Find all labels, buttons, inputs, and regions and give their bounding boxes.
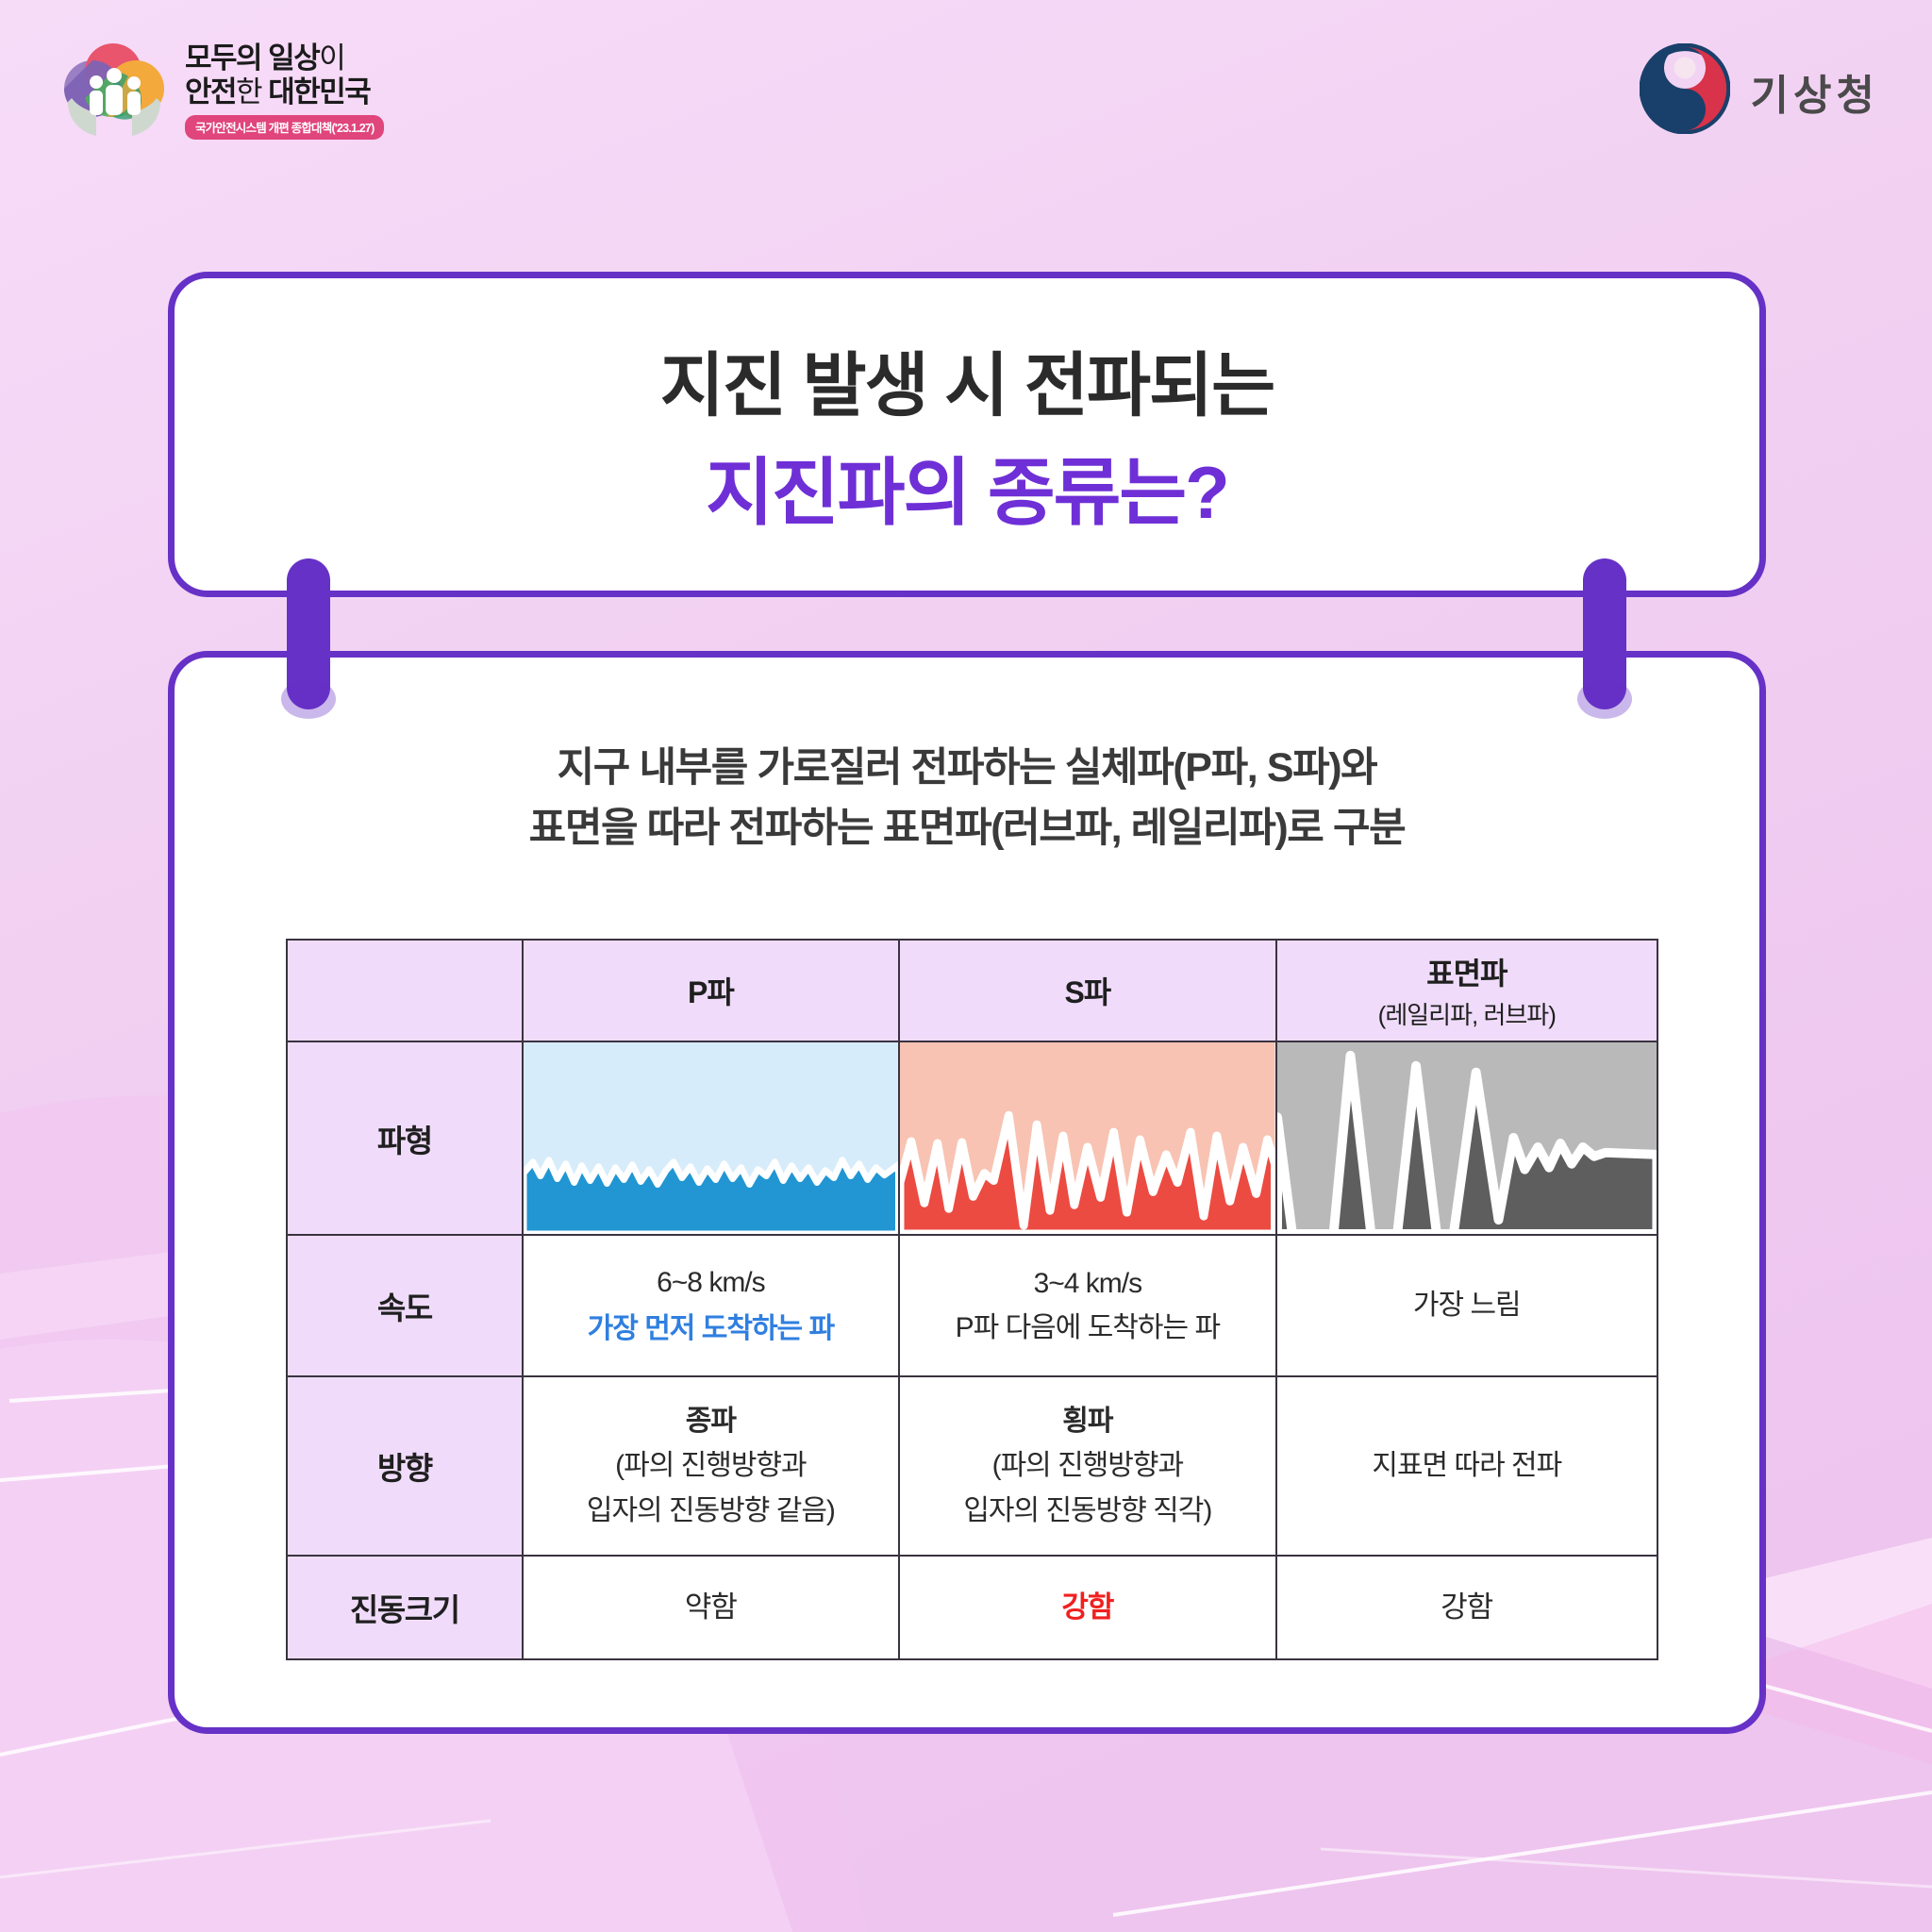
connector-pin-left [287,558,330,709]
table-row-speed: 속도 6~8 km/s 가장 먼저 도착하는 파 3~4 km/s P파 다음에… [287,1235,1657,1376]
direction-p-heading: 종파 [531,1401,891,1442]
speed-s-note: P파 다음에 도착하는 파 [908,1307,1267,1349]
table-row-amplitude: 진동크기 약함 강함 강함 [287,1556,1657,1659]
waveform-p-wave [523,1041,899,1235]
safety-campaign-logo: 모두의 일상이 안전한 대한민국 국가안전시스템 개편 종합대책('23.1.2… [58,40,384,143]
direction-s-heading: 횡파 [908,1401,1267,1442]
speed-p-wave: 6~8 km/s 가장 먼저 도착하는 파 [523,1235,899,1376]
speed-s-wave: 3~4 km/s P파 다음에 도착하는 파 [899,1235,1275,1376]
table-header-row: P파 S파 표면파 (레일리파, 러브파) [287,940,1657,1041]
header-surface-wave: 표면파 (레일리파, 러브파) [1276,940,1657,1041]
amplitude-surface-wave: 강함 [1276,1556,1657,1659]
family-in-hands-logo [58,40,170,143]
description-line-2: 표면을 따라 전파하는 표면파(러브파, 레일리파)로 구분 [175,799,1759,859]
brand-line-1: 모두의 일상이 [185,43,384,75]
speed-p-value: 6~8 km/s [531,1262,891,1304]
table-row-direction: 방향 종파 (파의 진행방향과 입자의 진동방향 같음) 횡파 (파의 진행방향… [287,1376,1657,1556]
kma-logo: 기상청 [1640,43,1879,139]
waveform-s-wave [899,1041,1275,1235]
direction-s-sub-a: (파의 진행방향과 [908,1445,1267,1487]
connector-pin-right [1583,558,1626,709]
row-label-direction: 방향 [287,1376,523,1556]
page-header: 모두의 일상이 안전한 대한민국 국가안전시스템 개편 종합대책('23.1.2… [0,0,1932,179]
seismic-wave-comparison-table: P파 S파 표면파 (레일리파, 러브파) 파형 [286,939,1658,1660]
header-corner [287,940,523,1041]
header-s-wave: S파 [899,940,1275,1041]
direction-s-wave: 횡파 (파의 진행방향과 입자의 진동방향 직각) [899,1376,1275,1556]
speed-s-value: 3~4 km/s [908,1263,1267,1305]
waveform-surface-wave [1276,1041,1657,1235]
page-title-line-2: 지진파의 종류는? [706,434,1228,540]
description-line-1: 지구 내부를 가로질러 전파하는 실체파(P파, S파)와 [175,739,1759,799]
page-title-line-1: 지진 발생 시 전파되는 [660,329,1274,430]
kma-label: 기상청 [1751,61,1879,122]
direction-p-wave: 종파 (파의 진행방향과 입자의 진동방향 같음) [523,1376,899,1556]
campaign-badge: 국가안전시스템 개편 종합대책('23.1.27) [185,115,384,140]
direction-s-sub-b: 입자의 진동방향 직각) [908,1491,1267,1532]
brand-text: 모두의 일상이 안전한 대한민국 국가안전시스템 개편 종합대책('23.1.2… [185,43,384,141]
direction-p-sub-a: (파의 진행방향과 [531,1445,891,1487]
amplitude-s-wave: 강함 [899,1556,1275,1659]
brand-line-2: 안전한 대한민국 [185,77,384,108]
title-card: 지진 발생 시 전파되는 지진파의 종류는? [168,272,1766,597]
header-p-wave: P파 [523,940,899,1041]
header-surface-sub: (레일리파, 러브파) [1277,996,1657,1031]
speed-surface-wave: 가장 느림 [1276,1235,1657,1376]
amplitude-p-wave: 약함 [523,1556,899,1659]
content-card: 지구 내부를 가로질러 전파하는 실체파(P파, S파)와 표면을 따라 전파하… [168,651,1766,1734]
taegeuk-emblem [1640,43,1730,139]
description-text: 지구 내부를 가로질러 전파하는 실체파(P파, S파)와 표면을 따라 전파하… [175,739,1759,858]
direction-surface-wave: 지표면 따라 전파 [1276,1376,1657,1556]
row-label-waveform: 파형 [287,1041,523,1235]
row-label-amplitude: 진동크기 [287,1556,523,1659]
direction-p-sub-b: 입자의 진동방향 같음) [531,1491,891,1532]
header-surface-main: 표면파 [1426,957,1507,991]
speed-p-note: 가장 먼저 도착하는 파 [531,1308,891,1350]
row-label-speed: 속도 [287,1235,523,1376]
table-row-waveform: 파형 [287,1041,1657,1235]
